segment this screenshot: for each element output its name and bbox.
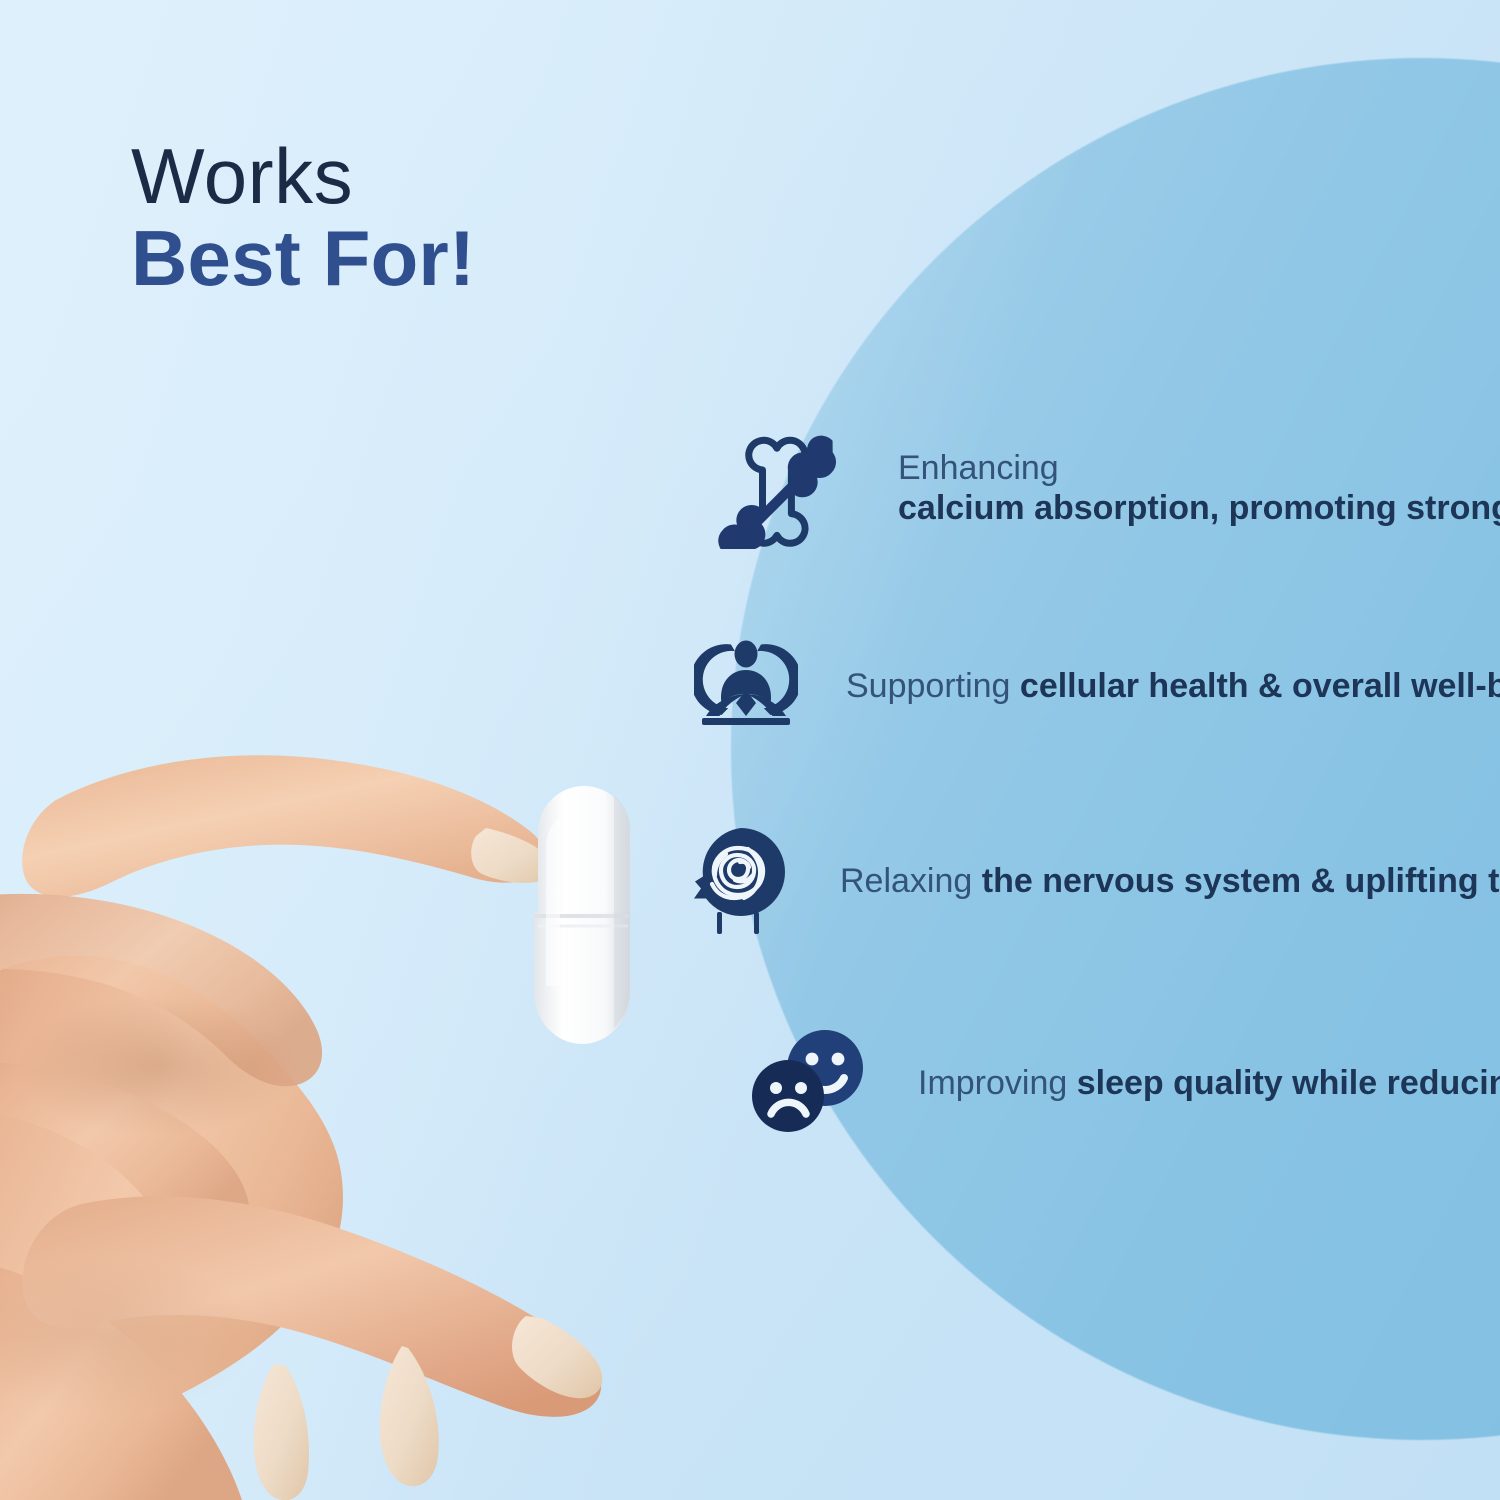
benefit-item-sleep-quality: Improving sleep quality while reducing s… xyxy=(750,1026,1500,1141)
happy-sad-faces-icon xyxy=(750,1026,870,1141)
bone-icon xyxy=(716,423,852,554)
page-title-line-2: Best For! xyxy=(131,220,475,296)
benefit-item-bone: Enhancing calcium absorption, promoting … xyxy=(716,423,1500,554)
product-photo-hand-with-capsule xyxy=(0,736,686,1500)
infographic-canvas: Works Best For! Enhancing calcium absorp… xyxy=(0,0,1500,1500)
benefit-lead-cellular-health: Supporting xyxy=(846,667,1010,705)
page-title: Works Best For! xyxy=(131,138,475,297)
benefit-text-bone: Enhancing calcium absorption, promoting … xyxy=(898,449,1500,529)
benefit-strong-cellular-health: cellular health & overall well-being. xyxy=(1020,667,1500,705)
white-capsule xyxy=(534,786,630,1044)
benefit-lead-sleep-quality: Improving xyxy=(918,1064,1067,1102)
meditating-person-icon xyxy=(694,632,798,741)
background-circle-decoration xyxy=(731,58,1500,1440)
benefit-lead-nervous-system: Relaxing xyxy=(840,862,972,900)
benefit-lead-bone: Enhancing xyxy=(898,449,1059,487)
page-title-line-1: Works xyxy=(131,138,475,214)
benefit-strong-nervous-system: the nervous system & uplifting the mood. xyxy=(982,862,1500,900)
benefit-text-sleep-quality: Improving sleep quality while reducing s… xyxy=(918,1064,1500,1104)
benefit-text-nervous-system: Relaxing the nervous system & uplifting … xyxy=(840,862,1500,902)
benefit-item-nervous-system: Relaxing the nervous system & uplifting … xyxy=(688,824,1500,939)
benefit-strong-bone: calcium absorption, promoting stronger b… xyxy=(898,489,1500,527)
benefit-item-cellular-health: Supporting cellular health & overall wel… xyxy=(694,632,1500,741)
tangled-mind-head-icon xyxy=(688,824,792,939)
benefit-text-cellular-health: Supporting cellular health & overall wel… xyxy=(846,667,1500,707)
benefit-strong-sleep-quality: sleep quality while reducing stress. xyxy=(1077,1064,1500,1102)
